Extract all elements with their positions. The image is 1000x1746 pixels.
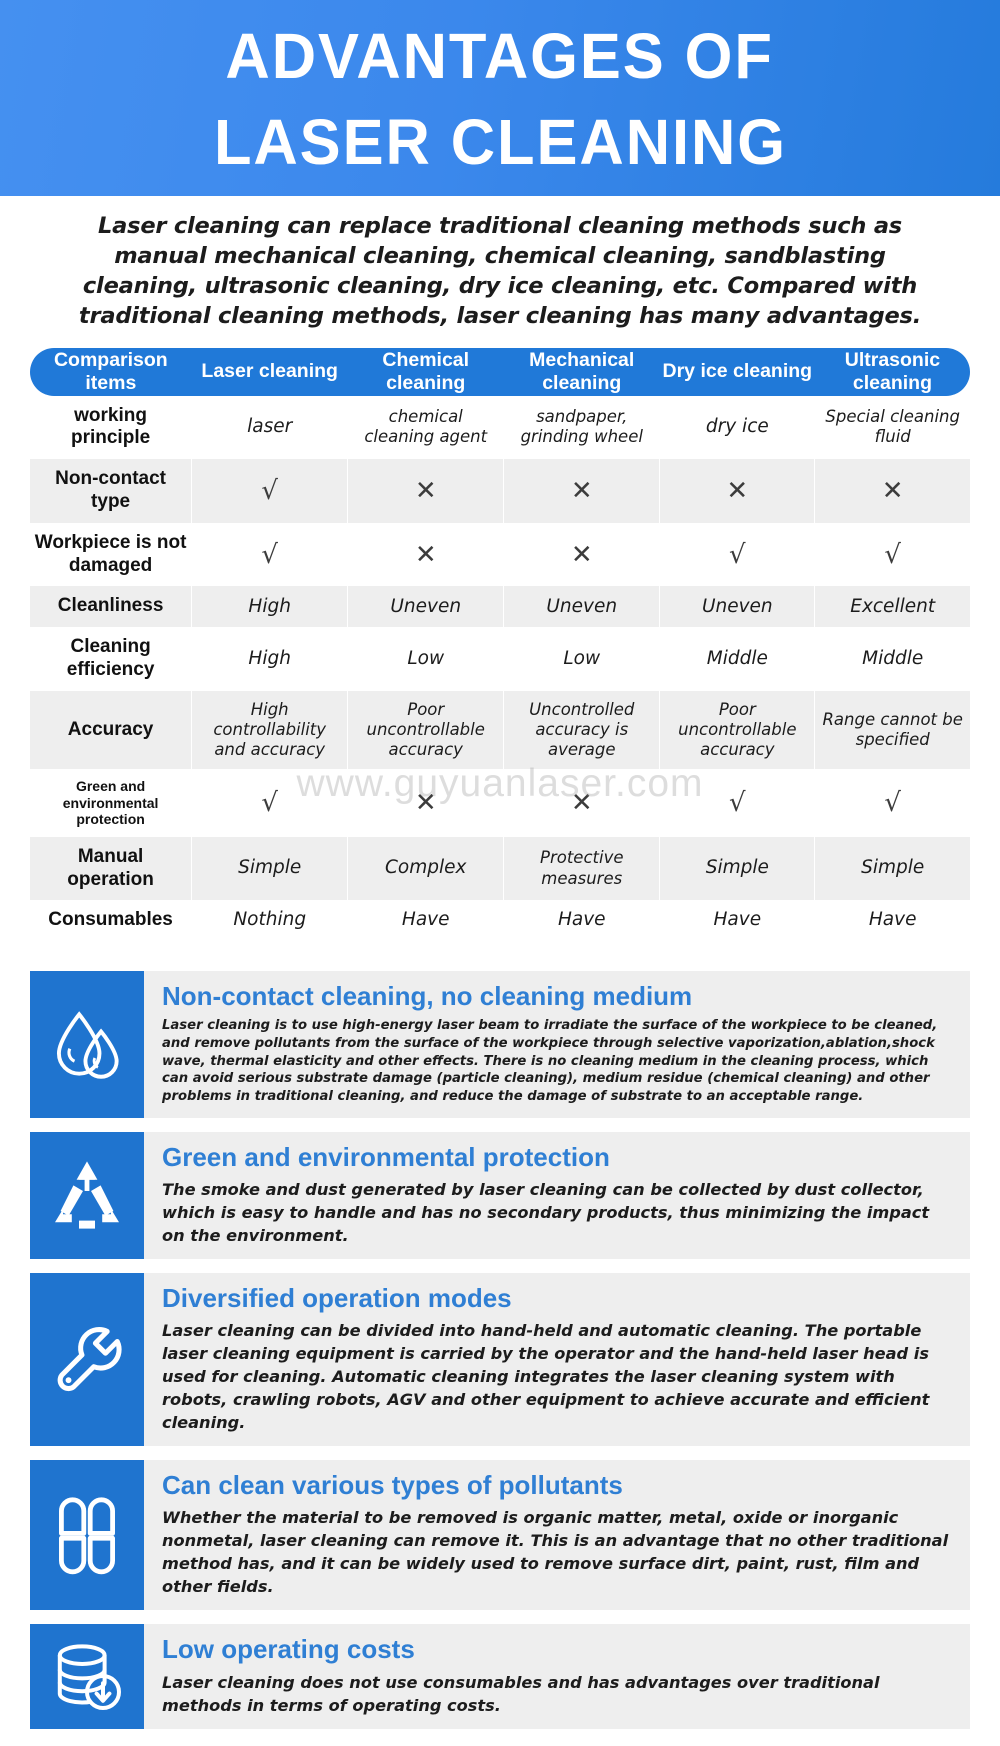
table-cell: Range cannot be specified (815, 691, 970, 769)
table-cell: Protective measures (504, 837, 660, 901)
table-cell: Middle (815, 627, 970, 691)
wrench-icon (30, 1273, 144, 1446)
table-row-label: Non-contact type (30, 459, 192, 523)
feature-card-title: Low operating costs (162, 1634, 952, 1665)
feature-card: Low operating costsLaser cleaning does n… (30, 1624, 970, 1728)
table-header-row: Comparison itemsLaser cleaningChemical c… (30, 348, 970, 396)
table-row-label: working principle (30, 396, 192, 460)
cross-icon: ✕ (348, 523, 504, 587)
table-cell: Simple (192, 837, 348, 901)
cross-icon: ✕ (348, 769, 504, 837)
feature-card-text: Laser cleaning does not use consumables … (162, 1671, 952, 1717)
cross-icon: ✕ (504, 523, 660, 587)
feature-card-body: Non-contact cleaning, no cleaning medium… (144, 971, 970, 1118)
table-row-label: Green and environmental protection (30, 769, 192, 837)
feature-card-body: Can clean various types of pollutantsWhe… (144, 1460, 970, 1610)
feature-card-text: The smoke and dust generated by laser cl… (162, 1178, 952, 1247)
table-cell: Uneven (660, 586, 815, 627)
recycle-icon (30, 1132, 144, 1259)
feature-cards-list: Non-contact cleaning, no cleaning medium… (30, 971, 970, 1728)
table-cell: High controllability and accuracy (192, 691, 348, 769)
feature-card-text: Laser cleaning can be divided into hand-… (162, 1319, 952, 1434)
table-column-header: Laser cleaning (192, 348, 348, 396)
table-cell: Middle (660, 627, 815, 691)
table-cell: Complex (348, 837, 504, 901)
table-column-header: Mechanical cleaning (504, 348, 660, 396)
cross-icon: ✕ (815, 459, 970, 523)
table-cell: chemical cleaning agent (348, 396, 504, 460)
check-icon: √ (192, 769, 348, 837)
cross-icon: ✕ (348, 459, 504, 523)
cross-icon: ✕ (660, 459, 815, 523)
page-title-line-2: LASER CLEANING (213, 100, 786, 186)
cross-icon: ✕ (504, 769, 660, 837)
feature-card-text: Laser cleaning is to use high-energy las… (162, 1017, 952, 1105)
table-row: Non-contact type√✕✕✕✕ (30, 459, 970, 523)
table-row-label: Cleaning efficiency (30, 627, 192, 691)
check-icon: √ (192, 523, 348, 587)
feature-card: Green and environmental protectionThe sm… (30, 1132, 970, 1259)
table-cell: High (192, 586, 348, 627)
table-row: working principlelaserchemical cleaning … (30, 396, 970, 460)
table-cell: Uncontrolled accuracy is average (504, 691, 660, 769)
table-row: Manual operationSimpleComplexProtective … (30, 837, 970, 901)
table-cell: sandpaper, grinding wheel (504, 396, 660, 460)
table-cell: Have (815, 900, 970, 941)
comparison-table: Comparison itemsLaser cleaningChemical c… (30, 348, 970, 941)
table-cell: Excellent (815, 586, 970, 627)
table-cell: Poor uncontrollable accuracy (660, 691, 815, 769)
feature-card-body: Low operating costsLaser cleaning does n… (144, 1624, 970, 1728)
intro-paragraph: Laser cleaning can replace traditional c… (60, 212, 940, 332)
table-cell: Have (660, 900, 815, 941)
feature-card-title: Non-contact cleaning, no cleaning medium (162, 981, 952, 1012)
check-icon: √ (660, 769, 815, 837)
table-row: Green and environmental protection√✕✕√√ (30, 769, 970, 837)
table-cell: Nothing (192, 900, 348, 941)
table-row: Cleaning efficiencyHighLowLowMiddleMiddl… (30, 627, 970, 691)
feature-card-body: Green and environmental protectionThe sm… (144, 1132, 970, 1259)
table-column-header: Dry ice cleaning (660, 348, 815, 396)
table-column-header: Ultrasonic cleaning (815, 348, 970, 396)
page-header: ADVANTAGES OF LASER CLEANING (0, 0, 1000, 196)
table-cell: High (192, 627, 348, 691)
coins-down-arrow-icon (30, 1624, 144, 1728)
table-body: working principlelaserchemical cleaning … (30, 396, 970, 941)
table-cell: Uneven (348, 586, 504, 627)
table-row-label: Consumables (30, 900, 192, 941)
feature-card: Can clean various types of pollutantsWhe… (30, 1460, 970, 1610)
table-row: AccuracyHigh controllability and accurac… (30, 691, 970, 769)
table-cell: Low (504, 627, 660, 691)
table-cell: Uneven (504, 586, 660, 627)
table-row: CleanlinessHighUnevenUnevenUnevenExcelle… (30, 586, 970, 627)
page-title-line-1: ADVANTAGES OF (226, 14, 774, 100)
table-cell: laser (192, 396, 348, 460)
table-cell: Low (348, 627, 504, 691)
table-cell: dry ice (660, 396, 815, 460)
table-cell: Poor uncontrollable accuracy (348, 691, 504, 769)
table-cell: Have (348, 900, 504, 941)
check-icon: √ (192, 459, 348, 523)
table-row-label: Workpiece is not damaged (30, 523, 192, 587)
clover-petals-icon (30, 1460, 144, 1610)
table-cell: Have (504, 900, 660, 941)
check-icon: √ (660, 523, 815, 587)
table-cell: Simple (815, 837, 970, 901)
feature-card-body: Diversified operation modesLaser cleanin… (144, 1273, 970, 1446)
table-cell: Simple (660, 837, 815, 901)
feature-card: Non-contact cleaning, no cleaning medium… (30, 971, 970, 1118)
table-column-header: Chemical cleaning (348, 348, 504, 396)
table-cell: Special cleaning fluid (815, 396, 970, 460)
feature-card-text: Whether the material to be removed is or… (162, 1506, 952, 1598)
table-column-header: Comparison items (30, 348, 192, 396)
feature-card: Diversified operation modesLaser cleanin… (30, 1273, 970, 1446)
check-icon: √ (815, 523, 970, 587)
table-row: ConsumablesNothingHaveHaveHaveHave (30, 900, 970, 941)
feature-card-title: Diversified operation modes (162, 1283, 952, 1314)
comparison-table-wrapper: Comparison itemsLaser cleaningChemical c… (30, 348, 970, 941)
table-row: Workpiece is not damaged√✕✕√√ (30, 523, 970, 587)
water-drops-icon (30, 971, 144, 1118)
table-row-label: Accuracy (30, 691, 192, 769)
feature-card-title: Green and environmental protection (162, 1142, 952, 1173)
cross-icon: ✕ (504, 459, 660, 523)
check-icon: √ (815, 769, 970, 837)
feature-card-title: Can clean various types of pollutants (162, 1470, 952, 1501)
table-row-label: Manual operation (30, 837, 192, 901)
table-row-label: Cleanliness (30, 586, 192, 627)
